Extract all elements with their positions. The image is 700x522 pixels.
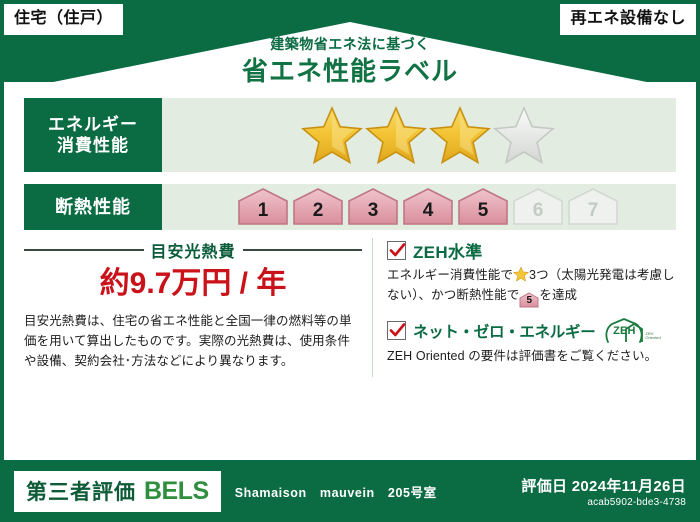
zeh-column: ZEH水準 エネルギー消費性能で3つ（太陽光発電は考慮しない）、かつ断熱性能で5… (372, 238, 676, 377)
house-badge-label-3: 3 (368, 201, 379, 227)
house-badge-label-6: 6 (533, 201, 544, 227)
utility-cost-note: 目安光熱費は、住宅の省エネ性能と全国一律の燃料等の単価を用いて算出したものです。… (24, 311, 362, 372)
lower-section: 目安光熱費 約9.7万円 / 年 目安光熱費は、住宅の省エネ性能と全国一律の燃料… (24, 238, 676, 377)
check-icon-1 (389, 242, 406, 259)
house-badge-label-2: 2 (313, 201, 324, 227)
zeh-body-text-a: エネルギー消費性能で (387, 268, 513, 282)
zeh-oriented-subtext: ZEH Oriented (645, 332, 660, 344)
star-icon-filled-3 (429, 105, 491, 165)
zeh-standard-head: ZEH水準 (387, 238, 676, 263)
insulation-performance-row: 断熱性能 1 (24, 184, 676, 230)
zeh-standard-label: ZEH水準 (413, 238, 483, 263)
zeh-house-icon: ZEH (604, 318, 644, 344)
house-badge-label-1: 1 (258, 201, 269, 227)
label-title: 省エネ性能ラベル (0, 55, 700, 88)
utility-cost-heading: 目安光熱費 (24, 238, 362, 262)
label-body: エネルギー 消費性能 (4, 82, 696, 460)
energy-key-line-1: エネルギー (48, 114, 138, 135)
utility-cost-title: 目安光熱費 (151, 238, 236, 262)
star-icon-empty-4 (493, 105, 555, 165)
net-zero-energy-label: ネット・ゼロ・エネルギー (413, 320, 595, 342)
house-icon-inline: 5 (519, 292, 539, 308)
zeh-body-text-c: を達成 (539, 288, 577, 302)
renewable-equipment-tag: 再エネ設備なし (560, 4, 696, 35)
house-badge-1: 1 (237, 187, 289, 227)
bels-logo-jp: 第三者評価 (26, 476, 136, 506)
evaluation-date: 評価日 2024年11月26日 (521, 475, 686, 496)
zeh-standard-block: ZEH水準 エネルギー消費性能で3つ（太陽光発電は考慮しない）、かつ断熱性能で5… (387, 238, 676, 308)
zeh-standard-checkbox[interactable] (387, 241, 406, 260)
house-badge-4: 4 (402, 187, 454, 227)
evaluation-meta: 評価日 2024年11月26日 acab5902-bde3-4738 (521, 475, 686, 508)
label-title-block: 建築物省エネ法に基づく 省エネ性能ラベル (0, 36, 700, 87)
net-zero-energy-block: ネット・ゼロ・エネルギー ZEH ZEH O (387, 318, 676, 367)
check-icon-2 (389, 322, 406, 339)
net-zero-energy-body: ZEH Oriented の要件は評価書をご覧ください。 (387, 347, 676, 367)
energy-performance-label: 住宅（住戸） 再エネ設備なし 建築物省エネ法に基づく 省エネ性能ラベル エネルギ… (0, 0, 700, 522)
rule-right (243, 249, 363, 251)
property-name: Shamaison mauvein 205号室 (235, 482, 437, 501)
zeh-oriented-logo: ZEH ZEH Oriented (604, 318, 660, 344)
house-badge-6: 6 (512, 187, 564, 227)
energy-key-line-2: 消費性能 (57, 135, 129, 156)
energy-performance-key: エネルギー 消費性能 (24, 98, 162, 172)
house-badge-5: 5 (457, 187, 509, 227)
house-badge-3: 3 (347, 187, 399, 227)
insulation-level-scale: 1 2 3 (162, 184, 676, 230)
house-icon-inline-label: 5 (519, 292, 539, 310)
house-badge-label-4: 4 (423, 201, 434, 227)
label-footer: 第三者評価 BELS Shamaison mauvein 205号室 評価日 2… (0, 460, 700, 522)
energy-star-rating (162, 98, 676, 172)
star-icon-filled-1 (301, 105, 363, 165)
zeh-standard-body: エネルギー消費性能で3つ（太陽光発電は考慮しない）、かつ断熱性能で5を達成 (387, 266, 676, 308)
house-badge-group: 1 2 3 (237, 187, 619, 227)
net-zero-energy-head: ネット・ゼロ・エネルギー ZEH ZEH O (387, 318, 676, 344)
zeh-sub-line-2: Oriented (645, 335, 660, 340)
house-badge-7: 7 (567, 187, 619, 227)
star-icon-inline (513, 266, 529, 282)
insulation-performance-key: 断熱性能 (24, 184, 162, 230)
utility-cost-value: 約9.7万円 / 年 (24, 264, 362, 305)
star-icon-filled-2 (365, 105, 427, 165)
energy-performance-row: エネルギー 消費性能 (24, 98, 676, 172)
bels-logo: 第三者評価 BELS (14, 471, 221, 512)
label-subtitle: 建築物省エネ法に基づく (0, 36, 700, 53)
net-zero-energy-checkbox[interactable] (387, 321, 406, 340)
bels-logo-en: BELS (144, 477, 209, 506)
evaluation-id: acab5902-bde3-4738 (521, 497, 686, 508)
utility-cost-column: 目安光熱費 約9.7万円 / 年 目安光熱費は、住宅の省エネ性能と全国一律の燃料… (24, 238, 372, 377)
zeh-house-icon-text: ZEH (604, 325, 644, 337)
rule-left (24, 249, 144, 251)
building-type-tag: 住宅（住戸） (4, 4, 123, 35)
house-badge-2: 2 (292, 187, 344, 227)
house-badge-label-7: 7 (588, 201, 599, 227)
house-badge-label-5: 5 (478, 201, 489, 227)
